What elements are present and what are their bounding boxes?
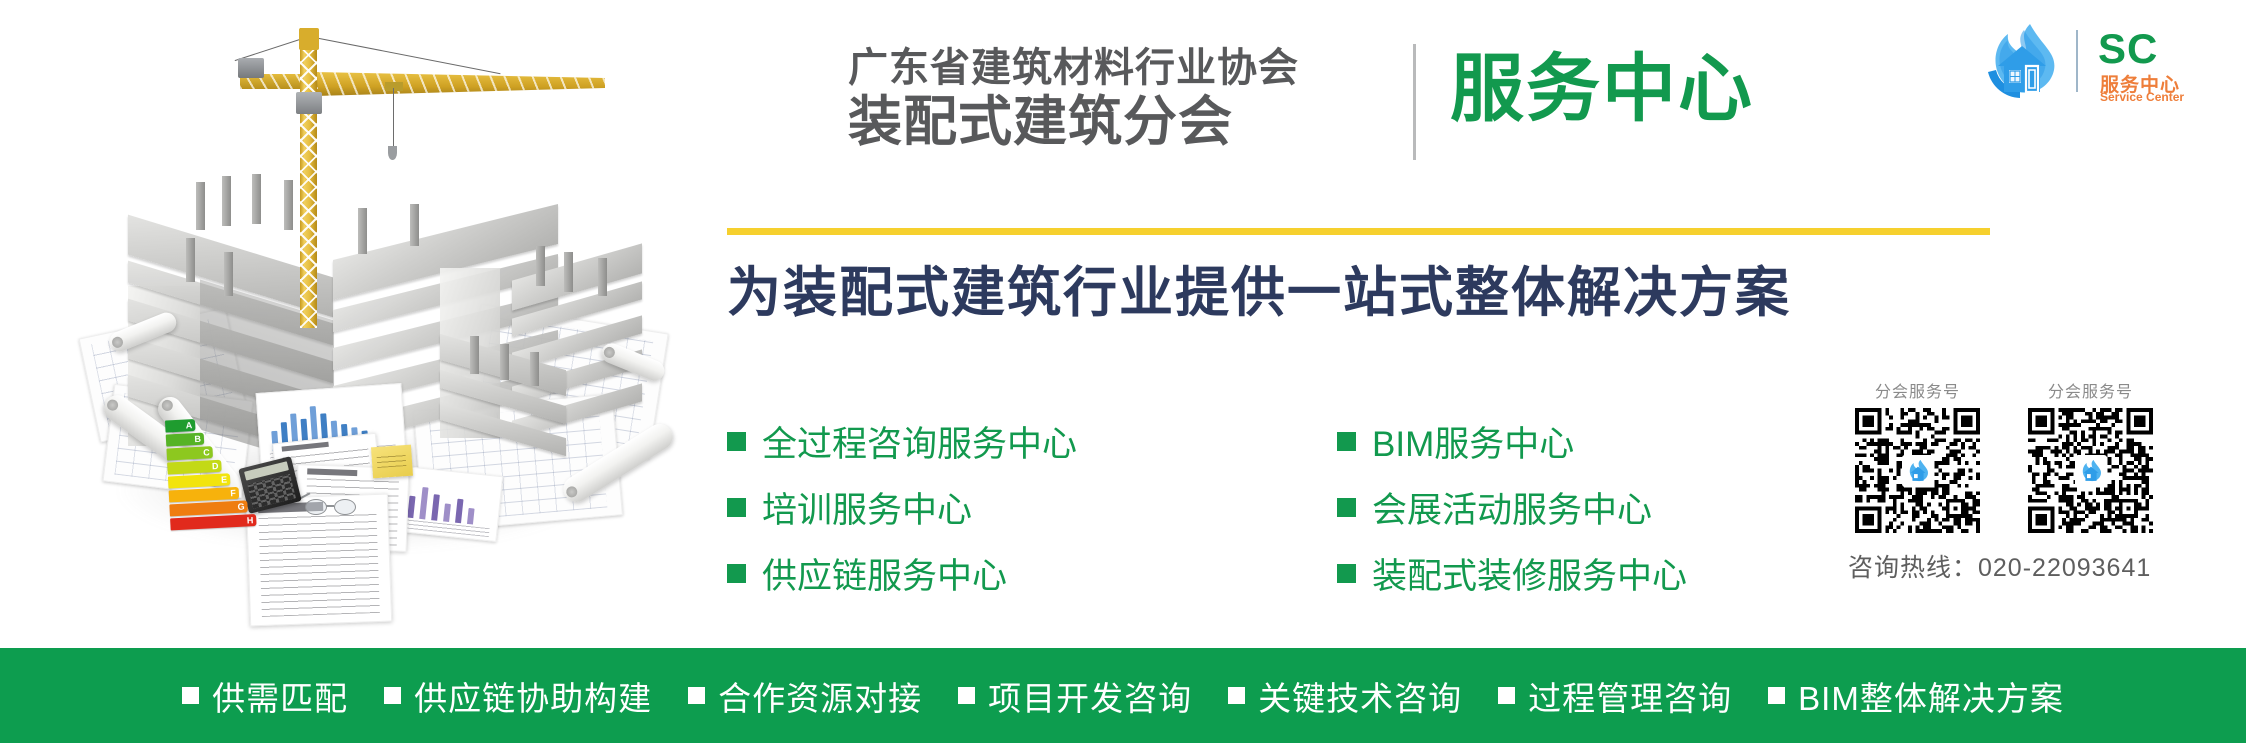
services-tag-label: BIM整体解决方案	[1798, 672, 2064, 720]
services-tag: 供应链协助构建	[384, 672, 652, 720]
bullet-square-icon	[1228, 687, 1245, 704]
service-item-label: 供应链服务中心	[762, 548, 1007, 599]
service-row: 培训服务中心 会展活动服务中心	[727, 474, 1737, 540]
bullet-square-icon	[1337, 432, 1356, 451]
service-row: 全过程咨询服务中心 BIM服务中心	[727, 408, 1737, 474]
services-tag: 关键技术咨询	[1228, 672, 1462, 720]
services-tag-label: 合作资源对接	[718, 672, 922, 720]
services-tag-label: 项目开发咨询	[988, 672, 1192, 720]
bullet-square-icon	[688, 687, 705, 704]
services-tag-label: 供应链协助构建	[414, 672, 652, 720]
crane-jib	[315, 72, 605, 96]
qr-code-caption: 分会服务号	[2028, 378, 2153, 402]
services-tag: 过程管理咨询	[1498, 672, 1732, 720]
service-row: 供应链服务中心 装配式装修服务中心	[727, 540, 1737, 606]
eyeglasses-icon	[305, 494, 359, 520]
logo-initials: SC	[2098, 30, 2158, 69]
logo-divider	[2076, 30, 2078, 92]
crane-mast	[300, 28, 317, 328]
association-title-line2: 装配式建筑分会	[848, 95, 1299, 149]
qr-code-item[interactable]: 分会服务号	[2028, 378, 2153, 533]
sticky-note	[371, 445, 413, 479]
crane-hook	[388, 146, 397, 160]
banner-subtitle: 为装配式建筑行业提供一站式整体解决方案	[727, 262, 1791, 324]
bar-bottom-margin	[0, 743, 2246, 752]
qr-center-logo	[1902, 455, 1934, 487]
house-flame-icon	[2078, 458, 2104, 484]
bullet-square-icon	[1498, 687, 1515, 704]
service-item-label: BIM服务中心	[1372, 416, 1574, 467]
service-center-title: 服务中心	[1450, 52, 1754, 126]
service-item-consulting: 全过程咨询服务中心	[727, 408, 1337, 474]
qr-code-image[interactable]	[2028, 408, 2153, 533]
services-tag: BIM整体解决方案	[1768, 672, 2064, 720]
service-item-label: 会展活动服务中心	[1372, 482, 1652, 533]
crane-counterweight	[238, 58, 264, 78]
energy-rating-bar: H	[170, 514, 257, 530]
bullet-square-icon	[727, 498, 746, 517]
service-item-label: 全过程咨询服务中心	[762, 416, 1077, 467]
energy-rating-label: C	[203, 446, 210, 458]
services-tag-label: 供需匹配	[212, 672, 348, 720]
services-tag-bar: 供需匹配供应链协助构建合作资源对接项目开发咨询关键技术咨询过程管理咨询BIM整体…	[0, 648, 2246, 743]
energy-rating-label: B	[194, 433, 201, 445]
crane-hook-line	[393, 88, 394, 150]
promo-banner: ABCDEFGH 广东省建筑材料行业协会 装配式建筑分会 服务中心 为装配式建筑…	[0, 0, 2246, 752]
energy-rating-label: A	[185, 419, 192, 431]
service-item-supply-chain: 供应链服务中心	[727, 540, 1337, 606]
qr-code-block: 分会服务号 分会服务号	[1855, 378, 2195, 533]
house-flame-icon	[1980, 20, 2064, 100]
logo-english-label: Service Center	[2100, 90, 2184, 104]
services-tag-label: 关键技术咨询	[1258, 672, 1462, 720]
qr-code-caption: 分会服务号	[1855, 378, 1980, 402]
qr-center-logo	[2075, 455, 2107, 487]
qr-code-image[interactable]	[1855, 408, 1980, 533]
crane-cab	[296, 92, 322, 114]
bullet-square-icon	[1337, 564, 1356, 583]
service-center-logo: SC 服务中心 Service Center	[1980, 20, 2230, 102]
qr-code-item[interactable]: 分会服务号	[1855, 378, 1980, 533]
energy-rating-label: G	[237, 501, 245, 513]
energy-rating-bar: A	[165, 419, 196, 433]
service-item-prefab-decoration: 装配式装修服务中心	[1337, 540, 1737, 606]
bullet-square-icon	[1768, 687, 1785, 704]
service-item-exhibition: 会展活动服务中心	[1337, 474, 1737, 540]
service-item-label: 装配式装修服务中心	[1372, 548, 1687, 599]
services-tag: 合作资源对接	[688, 672, 922, 720]
services-tag: 项目开发咨询	[958, 672, 1192, 720]
crane-trolley	[385, 82, 403, 91]
service-center-list: 全过程咨询服务中心 BIM服务中心 培训服务中心 会展活动服务中心 供应链服务中…	[727, 408, 1737, 606]
construction-site-illustration: ABCDEFGH	[0, 0, 690, 648]
title-divider	[1413, 44, 1416, 160]
energy-rating-label: F	[230, 487, 236, 499]
association-title-line1: 广东省建筑材料行业协会	[848, 48, 1299, 88]
hotline-text: 咨询热线：020-22093641	[1848, 548, 2151, 584]
energy-rating-bar: C	[166, 446, 213, 460]
energy-rating-label: D	[212, 460, 219, 472]
crane-cable	[309, 36, 501, 74]
service-item-label: 培训服务中心	[762, 482, 972, 533]
association-title: 广东省建筑材料行业协会 装配式建筑分会	[848, 48, 1299, 149]
bullet-square-icon	[1337, 498, 1356, 517]
energy-rating-label: H	[247, 514, 254, 526]
service-item-training: 培训服务中心	[727, 474, 1337, 540]
bullet-square-icon	[958, 687, 975, 704]
energy-rating-bar: B	[166, 433, 205, 447]
energy-rating-bar: D	[167, 460, 222, 475]
service-item-bim: BIM服务中心	[1337, 408, 1737, 474]
house-flame-icon	[1905, 458, 1931, 484]
services-tag: 供需匹配	[182, 672, 348, 720]
services-tag-label: 过程管理咨询	[1528, 672, 1732, 720]
yellow-divider-rule	[727, 228, 1990, 235]
bullet-square-icon	[727, 564, 746, 583]
bullet-square-icon	[182, 687, 199, 704]
energy-rating-bar: E	[168, 473, 231, 488]
energy-rating-bar: F	[169, 487, 240, 503]
bullet-square-icon	[384, 687, 401, 704]
bullet-square-icon	[727, 432, 746, 451]
energy-rating-label: E	[221, 473, 228, 485]
energy-rating-chart: ABCDEFGH	[165, 416, 267, 539]
crane-apex	[299, 28, 319, 50]
